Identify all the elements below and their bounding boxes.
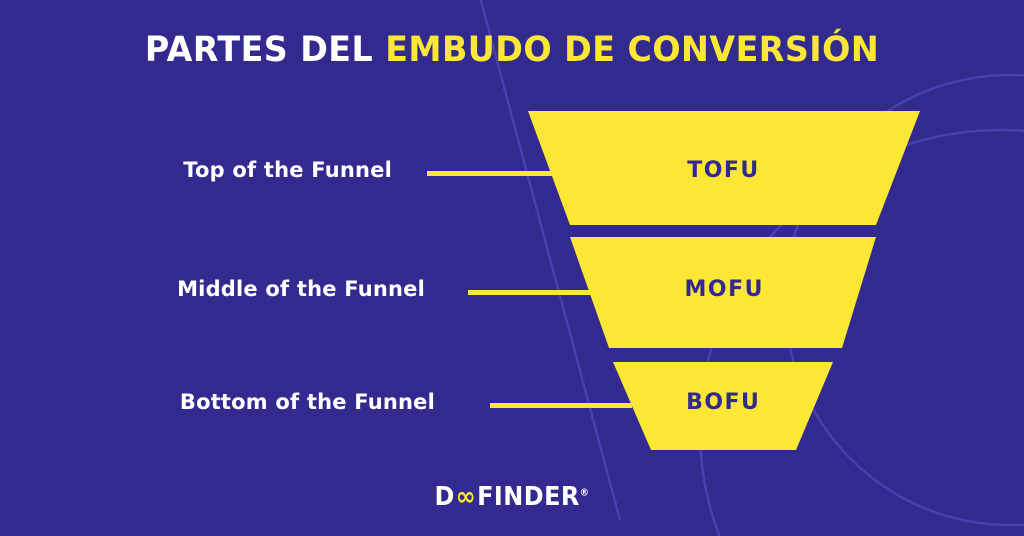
logo-infinity-mark: ∞ [456, 482, 476, 512]
logo-prefix: D [435, 482, 455, 512]
funnel-label-bofu: BOFU [623, 390, 823, 415]
connector-line-mofu [468, 290, 592, 295]
logo-suffix: FINDER [477, 482, 580, 512]
stage-caption-top-of-funnel: Top of the Funnel [0, 158, 392, 182]
logo-registered-mark: ® [580, 487, 590, 498]
connector-line-tofu [427, 171, 552, 176]
funnel-label-tofu: TOFU [624, 158, 824, 183]
stage-caption-bottom-of-funnel: Bottom of the Funnel [0, 390, 435, 414]
infographic-canvas: PARTES DEL EMBUDO DE CONVERSIÓN TOFU MOF… [0, 0, 1024, 536]
brand-logo-doofinder: D∞FINDER® [41, 482, 983, 512]
stage-caption-middle-of-funnel: Middle of the Funnel [0, 277, 425, 301]
connector-line-bofu [490, 403, 632, 408]
funnel-label-mofu: MOFU [624, 277, 824, 302]
funnel-diagram [0, 0, 1024, 536]
